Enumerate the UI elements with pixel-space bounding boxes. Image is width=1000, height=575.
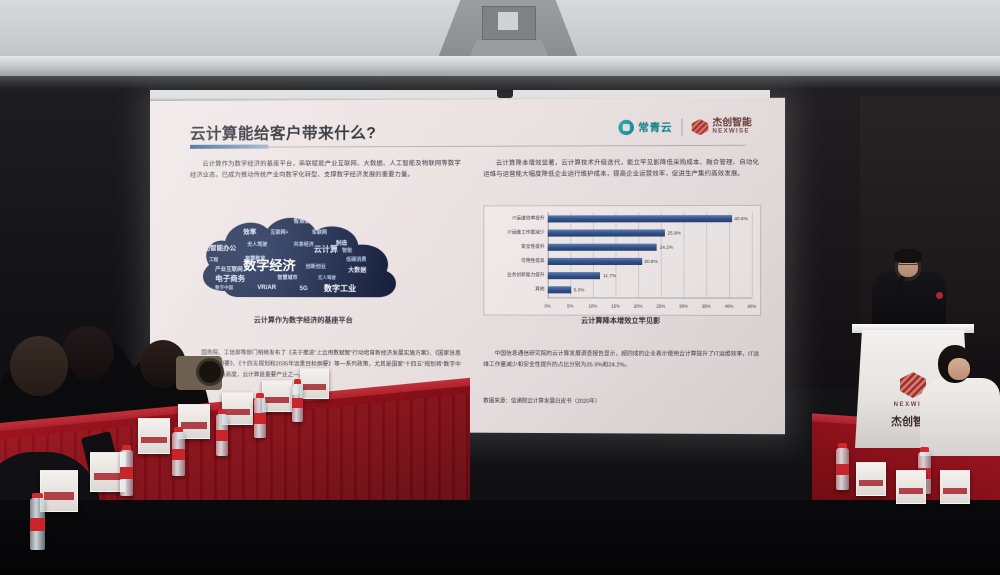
chart-bar [548, 229, 665, 236]
wordcloud-caption: 云计算作为数字经济的基座平台 [195, 315, 412, 325]
chart-value-label: 40.6% [734, 216, 748, 221]
logo-nexwise-cn: 杰创智能 [712, 119, 751, 129]
wordcloud-term: 绿色低碳 [247, 219, 269, 225]
logo-nexwise: 杰创智能 NEXWISE [692, 119, 752, 136]
conference-room-photo: 云计算能给客户带来什么? 常青云 杰创智能 NEXWISE [0, 0, 1000, 575]
projector-vent [470, 40, 548, 56]
chart-plot-area: IT运维效率提升40.6%IT运维工作量减少25.9%安全性提升24.2%可用性… [548, 212, 752, 298]
wordcloud-term: VR/AR [257, 285, 276, 291]
chart-bar-row: IT运维效率提升40.6% [548, 215, 752, 222]
chart-gridline [683, 212, 684, 297]
chart-category-label: IT运维工作量减少 [508, 230, 545, 236]
nexwise-cube-icon [692, 119, 709, 135]
chart-bar [548, 215, 732, 222]
wordcloud-term: 云计算 [314, 246, 338, 254]
title-rule [190, 145, 746, 148]
wordcloud-term: 共享经济 [294, 243, 314, 248]
chart-value-label: 20.8% [644, 259, 657, 264]
chart-gridline [548, 212, 549, 297]
chart-value-label: 11.7% [603, 273, 616, 278]
slide-right-column: 云计算降本增效显著，云计算技术升级迭代，能立竿见影降低采购成本、融合管理、自动化… [483, 157, 759, 181]
water-bottle [120, 450, 133, 496]
bar-chart: IT运维效率提升40.6%IT运维工作量减少25.9%安全性提升24.2%可用性… [483, 205, 761, 316]
left-paragraph: 云计算作为数字经济的基座平台，串联赋能产业互联网、大数据、人工智能及物联网等数字… [190, 158, 461, 182]
wordcloud-term: 互联网+ [270, 231, 288, 236]
bottle-cap [294, 379, 301, 384]
logo-nexwise-en: NEXWISE [712, 129, 751, 136]
right-paragraph: 云计算降本增效显著，云计算技术升级迭代，能立竿见影降低采购成本、融合管理、自动化… [483, 157, 759, 181]
water-bottle [172, 432, 185, 476]
camera-lens-icon [196, 358, 224, 386]
wordcloud-term: 车联网 [312, 231, 327, 236]
chart-gridline [752, 212, 753, 298]
chart-bar [548, 258, 642, 265]
wordcloud-term: 支付 [203, 236, 212, 241]
water-bottle [216, 414, 228, 456]
slide-title: 云计算能给客户带来什么? [190, 121, 376, 144]
bottle-cap [122, 445, 131, 450]
chart-x-axis [548, 297, 752, 298]
chart-value-label: 24.2% [660, 244, 673, 249]
wordcloud-term: 创新创业 [306, 265, 326, 270]
projector-lens-icon [498, 12, 518, 30]
chart-bar [548, 286, 571, 293]
wordcloud-term: 数字中国 [215, 286, 233, 291]
chart-caption: 云计算降本增效立竿见影 [483, 316, 759, 327]
wordcloud-term: 制造 [336, 242, 347, 248]
bottle-cap [218, 409, 226, 414]
chart-category-label: 可用性提高 [521, 258, 545, 264]
bottle-cap [920, 447, 929, 452]
wordcloud-term: 智慧教育 [245, 257, 265, 262]
chart-x-tick: 20% [634, 304, 643, 309]
wordcloud-term: 移动智能办公 [197, 246, 236, 253]
name-card [262, 380, 292, 412]
water-bottle [292, 384, 303, 422]
chart-x-tick: 0% [545, 303, 551, 308]
cloud-logo-icon [619, 120, 634, 135]
wordcloud-term: 5G [300, 286, 308, 292]
chart-bar-row: 业务创新能力提升11.7% [548, 272, 752, 279]
name-card [138, 418, 170, 454]
wordcloud-term: 智慧城市 [277, 276, 297, 281]
assistant-body [920, 378, 1000, 456]
bottle-cap [174, 427, 183, 432]
chart-value-label: 25.9% [667, 230, 680, 235]
wordcloud-term: 低碳消费 [346, 258, 366, 263]
chart-category-label: 业务创新能力提升 [507, 272, 545, 278]
logo-divider [681, 119, 682, 136]
chart-category-label: 安全性提升 [521, 244, 545, 250]
name-card [300, 368, 329, 399]
wordcloud-term: 工程 [209, 258, 218, 263]
slide-left-column: 云计算作为数字经济的基座平台，串联赋能产业互联网、大数据、人工智能及物联网等数字… [190, 158, 461, 182]
chart-x-tick: 15% [611, 304, 620, 309]
chart-gridline [638, 212, 639, 297]
logo-group: 常青云 杰创智能 NEXWISE [619, 118, 752, 136]
chart-x-tick: 45% [747, 304, 756, 309]
chart-x-tick: 30% [679, 304, 688, 309]
chart-category-label: IT运维效率提升 [512, 216, 544, 222]
right-bottom-paragraph: 中国信息通信研究院的云计算发展调查报告显示，超四成的企业表示使用云计算提升了IT… [483, 349, 759, 372]
wordcloud-term: 效率 [243, 230, 256, 237]
chart-value-label: 5.2% [574, 287, 585, 292]
flower-badge-icon [936, 292, 943, 299]
chart-bar-row: 安全性提升24.2% [548, 244, 752, 251]
chart-category-label: 其他 [535, 286, 544, 292]
floor [0, 500, 1000, 575]
title-underline [190, 145, 268, 149]
logo-changqingyun-label: 常青云 [638, 120, 672, 135]
chart-x-tick: 25% [656, 304, 665, 309]
water-bottle [836, 448, 849, 490]
chart-x-tick: 10% [588, 304, 597, 309]
audience-head [10, 336, 68, 396]
chart-gridline [729, 212, 730, 298]
wordcloud-term: 产业互联网 [215, 268, 243, 274]
logo-changqingyun: 常青云 [619, 120, 673, 135]
chart-gridline [615, 212, 616, 297]
water-bottle [30, 498, 45, 550]
chart-gridline [593, 212, 594, 297]
chart-x-tick: 5% [567, 303, 573, 308]
wordcloud-shape: 数字经济云计算移动智能办公电子商务数字工业绿色低碳智慧医疗效率互联网+车联网无人… [195, 213, 412, 309]
chart-gridline [570, 212, 571, 297]
wordcloud-term: 无人驾驶 [247, 243, 267, 248]
name-card [856, 462, 886, 496]
chart-bar-row: 可用性提高20.8% [548, 258, 752, 265]
chart-bar-row: 其他5.2% [548, 286, 752, 293]
glasses-icon [899, 264, 917, 269]
chart-bar [548, 244, 657, 251]
chart-source-note: 数据来源：信通院云计算发展白皮书（2020年） [483, 396, 759, 405]
chart-gridline [706, 212, 707, 297]
ceiling-beam [0, 56, 1000, 76]
wordcloud-term: 智能 [342, 249, 352, 254]
bottle-cap [256, 393, 264, 398]
bottle-cap [32, 493, 43, 498]
wordcloud-figure: 数字经济云计算移动智能办公电子商务数字工业绿色低碳智慧医疗效率互联网+车联网无人… [195, 213, 412, 309]
chart-x-tick: 40% [725, 304, 734, 309]
name-card [940, 470, 970, 504]
speaker-hair [894, 249, 922, 263]
water-bottle [254, 398, 266, 438]
chart-bar [548, 272, 601, 279]
name-card [896, 470, 926, 504]
wordcloud-term: 大数据 [348, 268, 366, 274]
name-card [40, 470, 78, 512]
ceiling-shadow [0, 76, 1000, 90]
chart-gridline [661, 212, 662, 297]
bottle-cap [838, 443, 847, 448]
wordcloud-term: 数字工业 [324, 285, 356, 293]
chart-x-tick: 35% [702, 304, 711, 309]
wordcloud-term: 智慧医疗 [294, 220, 316, 226]
chart-bar-row: IT运维工作量减少25.9% [548, 229, 752, 236]
wordcloud-term: 无人驾驶 [318, 276, 336, 281]
assistant-face [948, 358, 970, 380]
wordcloud-term: 电子商务 [215, 275, 245, 283]
